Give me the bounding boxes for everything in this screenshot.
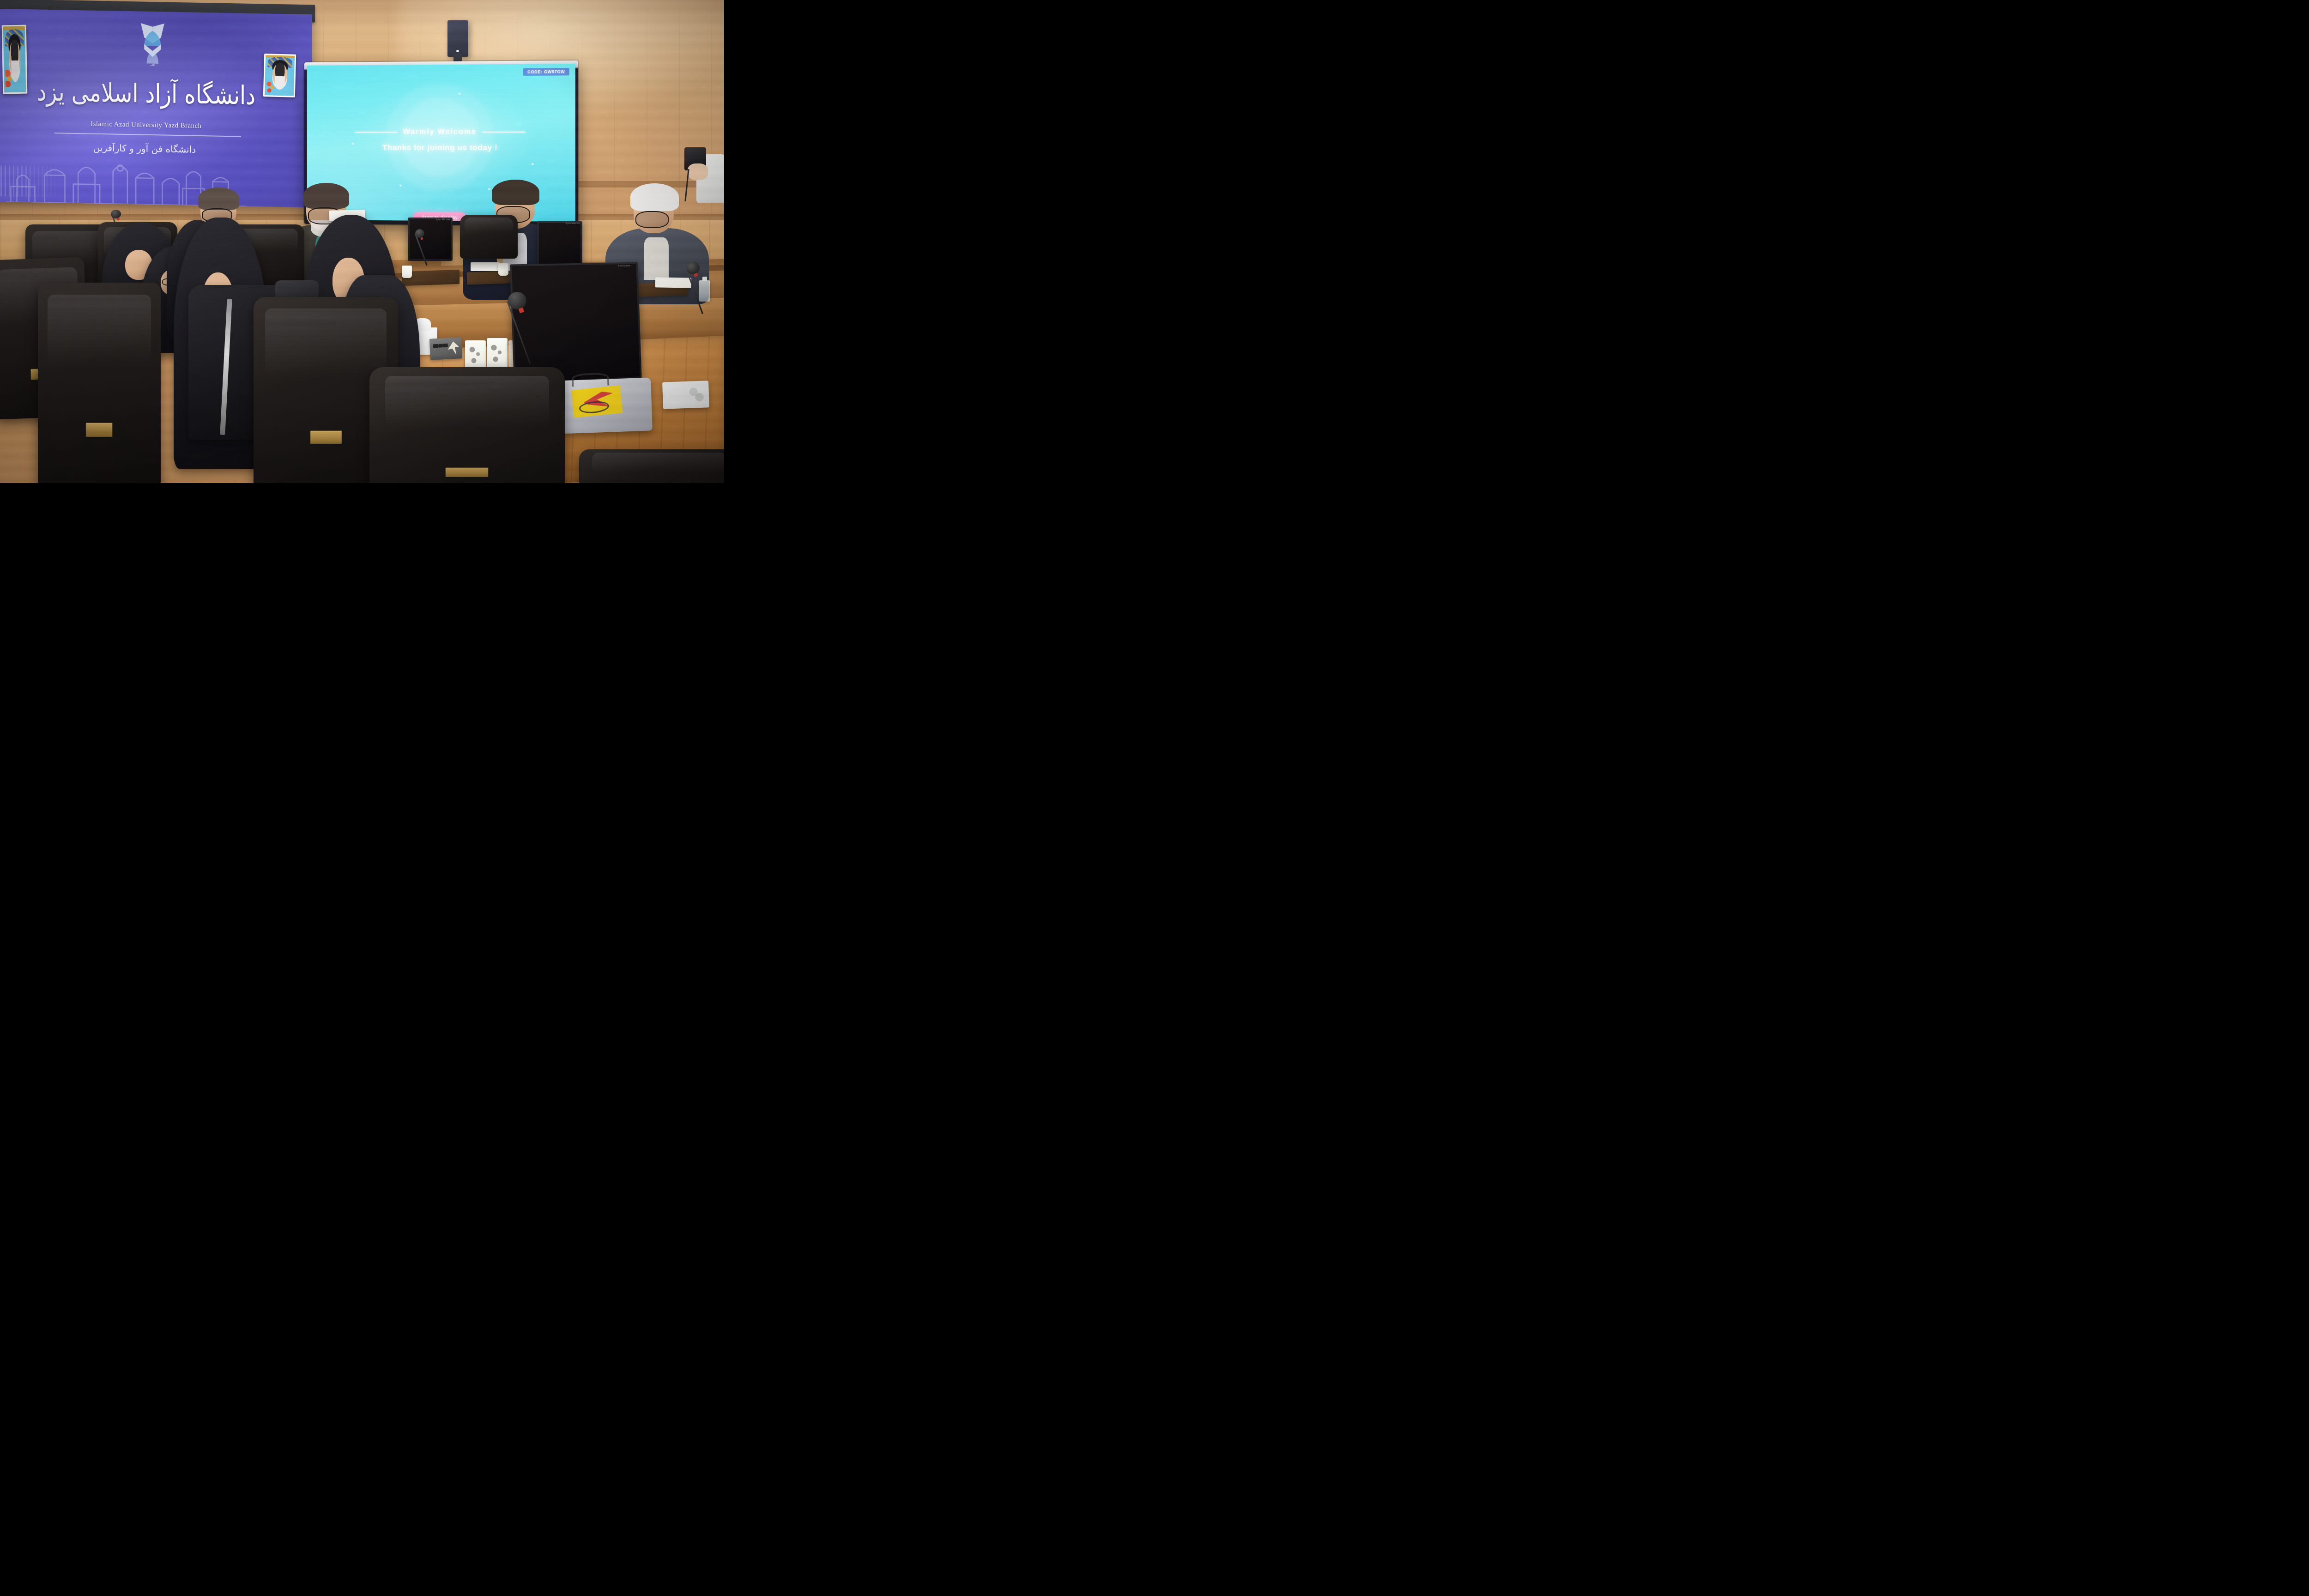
banner-divider xyxy=(54,133,242,137)
welcome-subtitle: Thanks for joining us today ! xyxy=(307,143,575,152)
paper-cup xyxy=(402,266,412,278)
welcome-heading-row: Warmly Welcome xyxy=(307,127,575,136)
promotional-gift-bag xyxy=(556,378,653,434)
paper-cup xyxy=(465,340,486,370)
gooseneck-conference-microphone xyxy=(417,232,437,266)
banner-watermark-pattern xyxy=(0,165,61,197)
framed-portrait-left xyxy=(1,25,27,94)
monitor-model-label: SyncMaster xyxy=(618,265,632,267)
svg-text:الله: الله xyxy=(151,64,155,67)
chair-brass-plate xyxy=(310,430,342,444)
zipper-detail xyxy=(220,299,232,435)
banner-subtitle-english: Islamic Azad University Yazd Branch xyxy=(6,119,286,132)
executive-office-chair[interactable] xyxy=(579,449,724,483)
paper-cup xyxy=(498,263,508,276)
executive-office-chair[interactable] xyxy=(38,283,161,483)
sparkle-decoration xyxy=(532,163,534,165)
session-code-badge: CODE: GW97GW xyxy=(524,68,569,76)
sparkle-decoration xyxy=(400,184,402,186)
speaker-led-indicator xyxy=(456,50,459,53)
wall-speaker-icon xyxy=(447,20,468,57)
monitor-model-label: SyncMaster xyxy=(436,218,450,221)
framed-portrait-right xyxy=(263,54,296,97)
table-card-holder xyxy=(429,337,462,360)
conference-room-photo: الله دانشگاه آزاد اسلامی یزد Islamic Aza… xyxy=(0,0,724,483)
gift-bag-logo-icon xyxy=(571,386,623,418)
executive-office-chair[interactable] xyxy=(460,215,518,258)
document-papers xyxy=(471,262,500,271)
document-papers xyxy=(655,278,692,288)
banner-title-farsi: دانشگاه آزاد اسلامی یزد xyxy=(6,76,286,111)
standing-photographer-with-camera xyxy=(684,135,724,203)
welcome-title: Warmly Welcome xyxy=(403,127,477,136)
bird-emblem-icon xyxy=(447,341,459,356)
gooseneck-conference-microphone xyxy=(688,266,717,314)
speaker-mount-bracket xyxy=(453,54,462,62)
heading-rule-left xyxy=(355,132,398,133)
heading-rule-right xyxy=(483,131,526,132)
gooseneck-conference-microphone xyxy=(510,297,550,364)
chair-brass-plate xyxy=(85,423,113,437)
sparkle-decoration xyxy=(459,92,460,94)
tissue-box xyxy=(662,381,709,409)
university-banner: الله دانشگاه آزاد اسلامی یزد Islamic Aza… xyxy=(0,9,312,208)
desk-monitor-back-right[interactable]: SyncMaster xyxy=(537,221,582,267)
paper-cup xyxy=(487,338,508,369)
islamic-azad-university-logo-icon: الله xyxy=(132,21,174,72)
chair-brass-plate xyxy=(446,467,489,478)
executive-office-chair[interactable] xyxy=(369,367,565,483)
monitor-model-label: SyncMaster xyxy=(565,222,580,225)
